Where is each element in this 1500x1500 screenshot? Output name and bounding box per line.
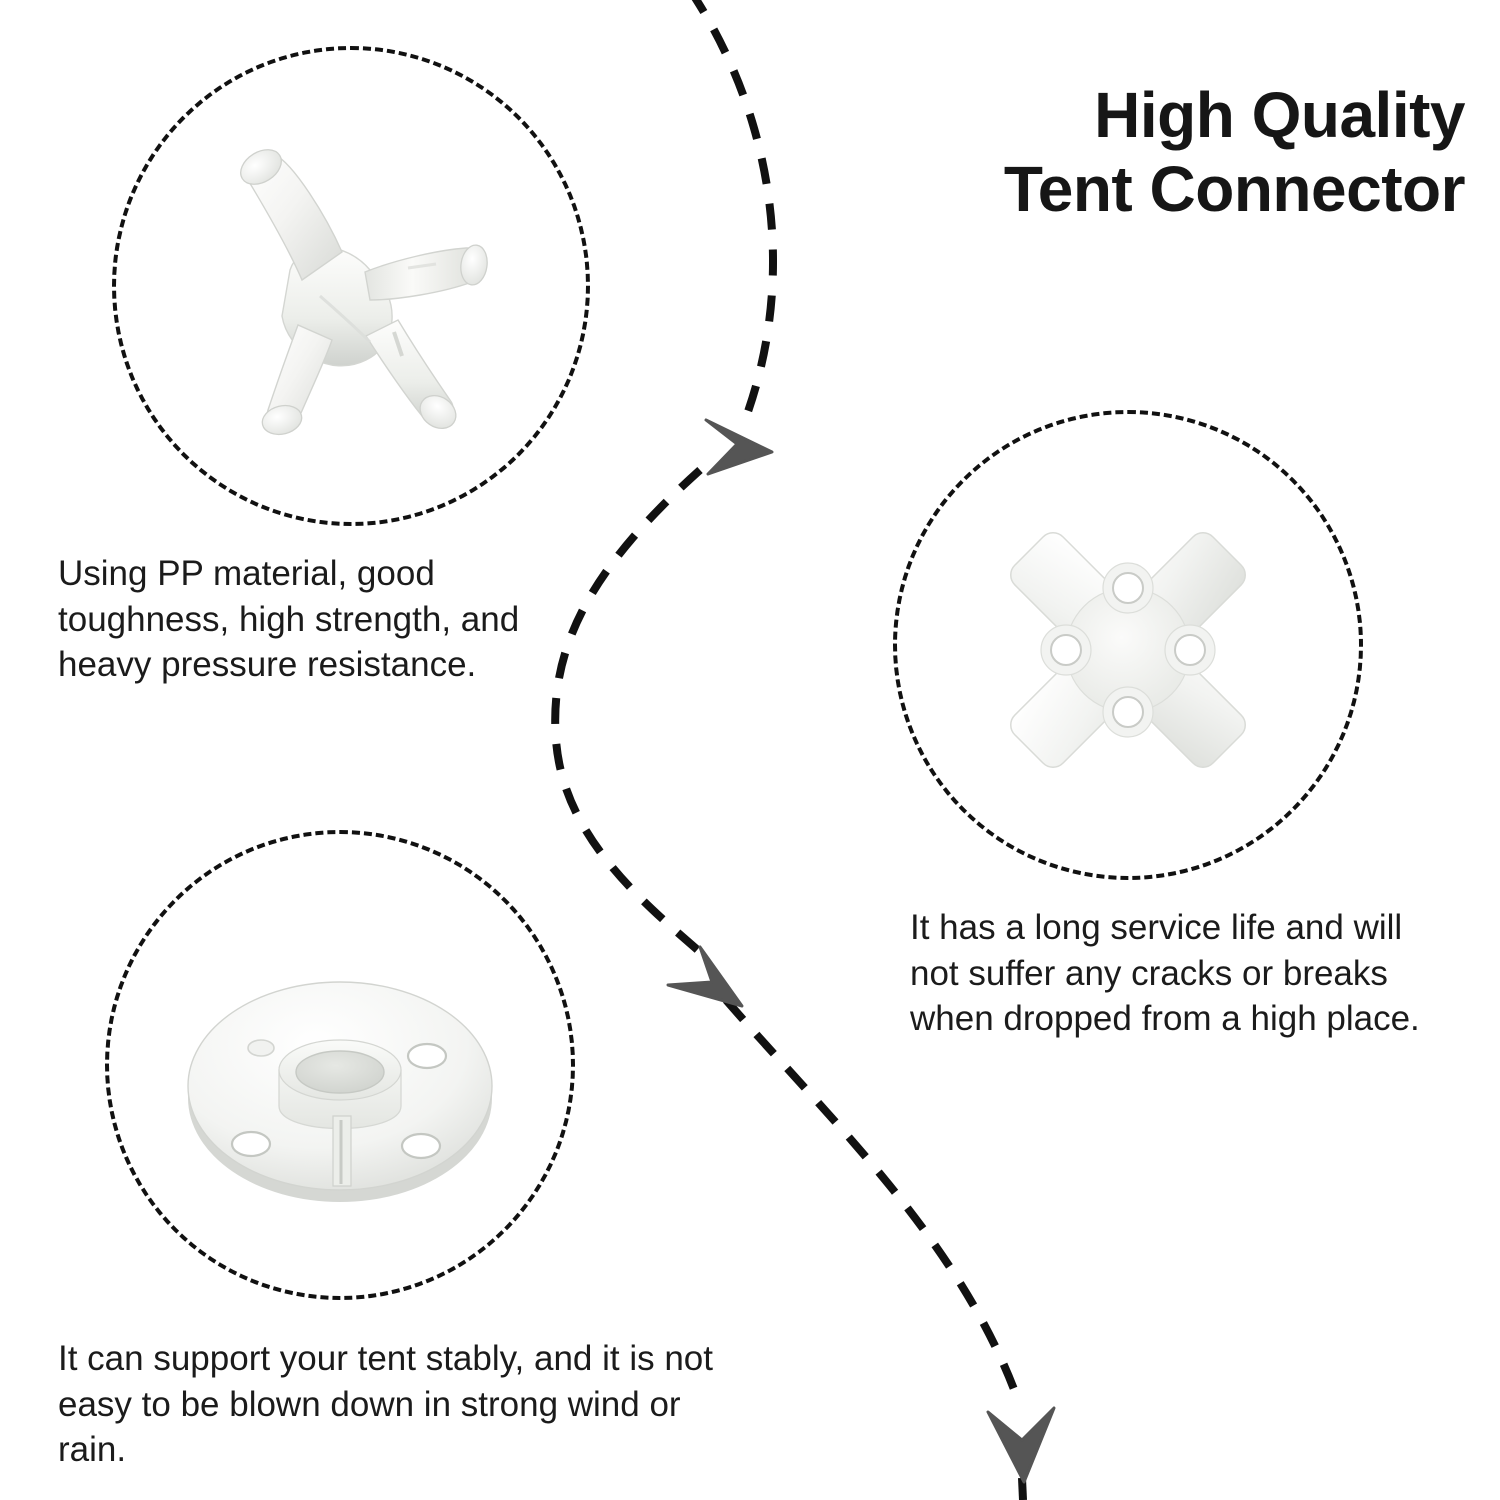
round-base-flange-icon [175,930,505,1220]
flow-arrow-bottom [988,1408,1054,1482]
flow-arrow-middle [668,947,742,1006]
flow-segment-tail [1022,1478,1023,1500]
product-image-cross-flat-connector [968,490,1288,810]
product-image-four-way-tube-connector [170,120,540,460]
infographic-canvas: High Quality Tent Connector [0,0,1500,1500]
page-title: High Quality Tent Connector [845,78,1465,226]
page-title-line-1: High Quality [845,78,1465,152]
cross-flat-connector-icon [968,490,1288,810]
product-image-round-base-flange [175,930,505,1220]
flow-arrow-top [706,420,772,474]
flow-segment-bottom [726,1000,1018,1400]
flow-segment-top [690,0,773,420]
feature-caption-material: Using PP material, good toughness, high … [58,551,598,688]
flow-segment-middle [555,470,700,952]
feature-caption-stability: It can support your tent stably, and it … [58,1336,758,1473]
page-title-line-2: Tent Connector [845,152,1465,226]
four-way-tube-connector-icon [170,120,540,460]
feature-caption-durability: It has a long service life and will not … [910,905,1455,1042]
